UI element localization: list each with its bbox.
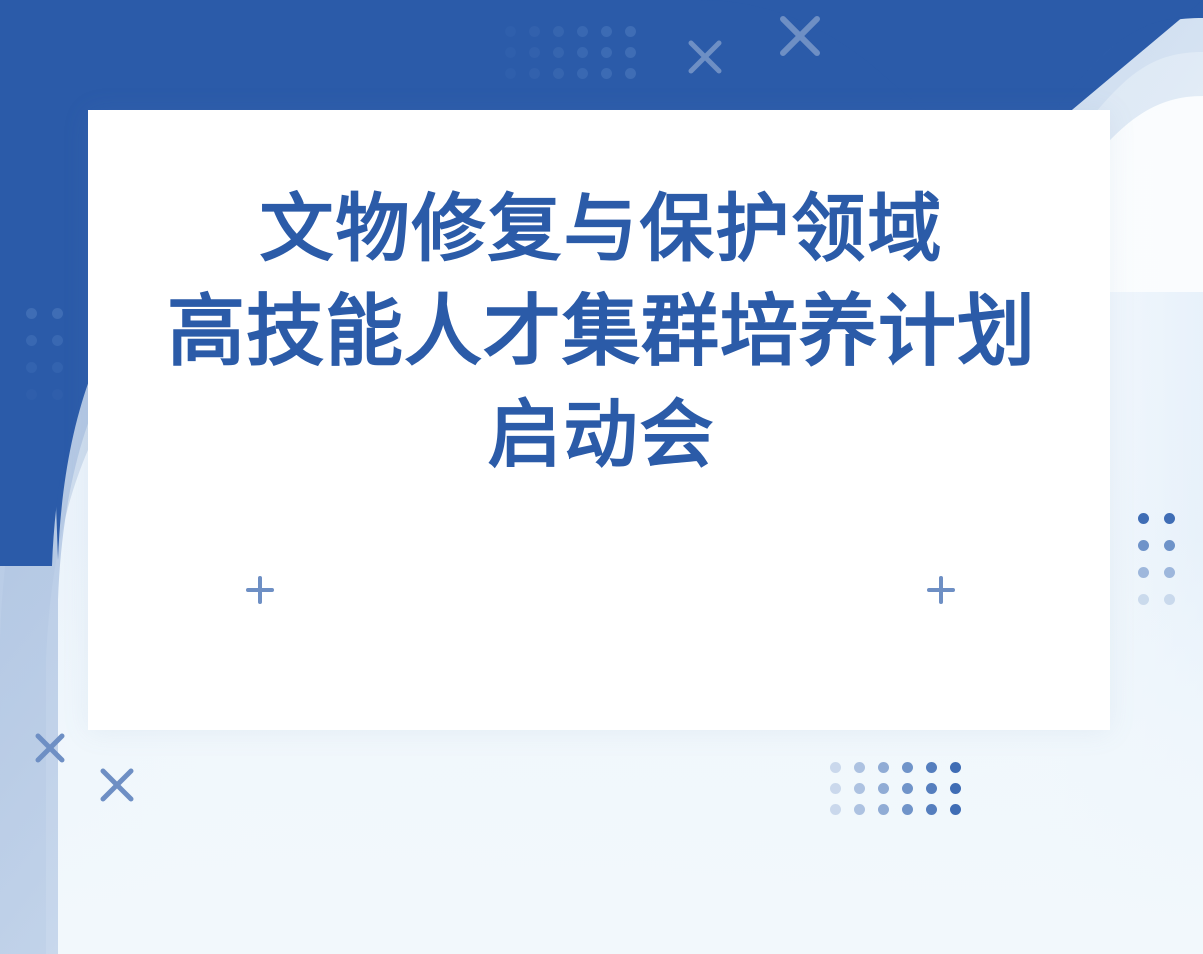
decorative-dot [902, 804, 913, 815]
decorative-dot [950, 762, 961, 773]
decorative-dot [830, 783, 841, 794]
decorative-dot [1138, 513, 1149, 524]
decorative-dot [505, 26, 516, 37]
decorative-dot [830, 762, 841, 773]
decorative-dot [950, 783, 961, 794]
x-mark-top-right [777, 13, 823, 59]
decorative-dot [577, 68, 588, 79]
x-mark-top-mid [686, 38, 724, 76]
decorative-dot [1164, 513, 1175, 524]
decorative-dot [926, 783, 937, 794]
decorative-dot [926, 804, 937, 815]
decorative-dot [601, 68, 612, 79]
decorative-dot [1164, 540, 1175, 551]
decorative-dot [950, 804, 961, 815]
decorative-dot [1164, 567, 1175, 578]
decorative-dot [625, 47, 636, 58]
decorative-dot [553, 68, 564, 79]
decorative-dot [577, 26, 588, 37]
decorative-dot [854, 783, 865, 794]
decorative-dot [625, 68, 636, 79]
slide-title-block: 文物修复与保护领域 高技能人才集群培养计划 启动会 [0, 178, 1203, 487]
decorative-dot [529, 47, 540, 58]
decorative-dot [854, 804, 865, 815]
title-line-3: 启动会 [0, 384, 1203, 487]
title-line-2: 高技能人才集群培养计划 [0, 281, 1203, 384]
decorative-dot [505, 47, 516, 58]
decorative-dot [926, 762, 937, 773]
dot-grid-bottom-right [830, 762, 974, 825]
dot-grid-top-right [505, 26, 649, 89]
decorative-dot [601, 26, 612, 37]
decorative-dot [625, 26, 636, 37]
x-mark-bottom-left-lower [98, 766, 136, 804]
decorative-dot [878, 783, 889, 794]
decorative-dot [505, 68, 516, 79]
decorative-dot [854, 762, 865, 773]
decorative-dot [902, 762, 913, 773]
decorative-dot [601, 47, 612, 58]
decorative-dot [529, 68, 540, 79]
decorative-dot [902, 783, 913, 794]
decorative-dot [878, 762, 889, 773]
decorative-dot [553, 26, 564, 37]
decorative-dot [529, 26, 540, 37]
decorative-dot [577, 47, 588, 58]
title-line-1: 文物修复与保护领域 [0, 178, 1203, 281]
x-mark-bottom-left-upper [33, 731, 67, 765]
decorative-dot [1138, 594, 1149, 605]
dot-grid-right [1138, 513, 1190, 621]
decorative-dot [830, 804, 841, 815]
decorative-dot [553, 47, 564, 58]
decorative-dot [878, 804, 889, 815]
decorative-dot [1138, 567, 1149, 578]
presentation-slide: 文物修复与保护领域 高技能人才集群培养计划 启动会 [0, 0, 1203, 954]
decorative-dot [1164, 594, 1175, 605]
decorative-dot [1138, 540, 1149, 551]
